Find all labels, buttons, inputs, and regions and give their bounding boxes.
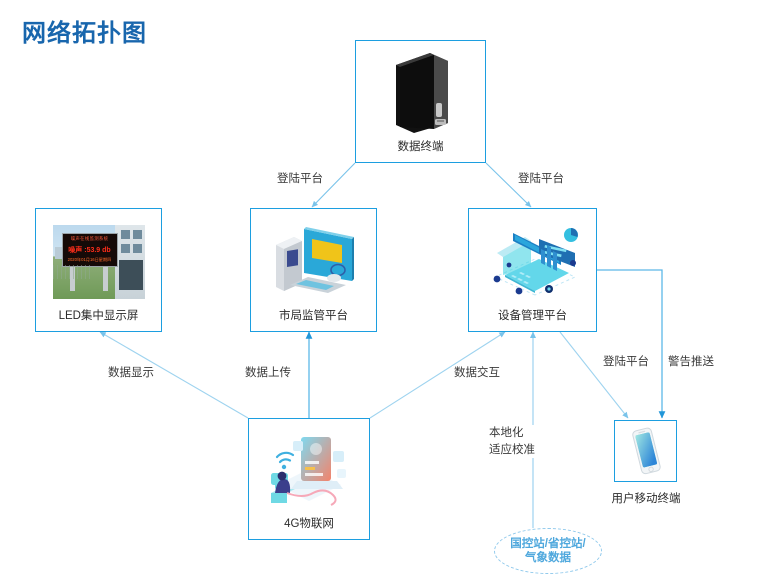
page-title: 网络拓扑图 [22, 13, 147, 48]
node-label-bureau-platform: 市局监管平台 [279, 310, 348, 331]
edge-label-login-mobile: 登陆平台 [601, 355, 651, 371]
led-text-line2: 噪声 :53.9 db [66, 245, 114, 255]
desktop-pc-icon [251, 209, 376, 310]
node-iot-4g[interactable]: 4G物联网 [248, 418, 370, 540]
edge-label-localization: 本地化 适应校准 [487, 425, 537, 458]
edge-label-alert-push: 警告推送 [666, 355, 716, 371]
led-text-line1: 噪声在线监测系统 [66, 236, 114, 242]
node-bureau-platform[interactable]: 市局监管平台 [250, 208, 377, 332]
node-data-terminal[interactable]: 数据终端 [355, 40, 486, 163]
node-label-led-display: LED集中显示屏 [59, 310, 139, 331]
external-data-line1: 国控站/省控站/ [510, 537, 585, 551]
edge-label-data-upload: 数据上传 [243, 366, 293, 382]
external-data-line2: 气象数据 [510, 551, 585, 565]
edge-device-to-mobile-alert [597, 270, 662, 418]
edge-label-login-left: 登陆平台 [275, 172, 325, 188]
node-device-platform[interactable]: 设备管理平台 [468, 208, 597, 332]
edge-label-localization-line1: 本地化 [489, 425, 535, 442]
node-label-mobile-terminal: 用户移动终端 [596, 490, 696, 506]
node-external-data[interactable]: 国控站/省控站/ 气象数据 [494, 528, 602, 574]
edge-device-to-mobile-login [560, 332, 628, 418]
led-billboard-icon: 噪声在线监测系统 噪声 :53.9 db 2020年01月16日星期四 [36, 209, 161, 310]
smartphone-icon [615, 421, 676, 481]
node-label-data-terminal: 数据终端 [398, 141, 444, 162]
node-led-display[interactable]: 噪声在线监测系统 噪声 :53.9 db 2020年01月16日星期四 LED集… [35, 208, 162, 332]
edge-label-login-right: 登陆平台 [516, 172, 566, 188]
server-icon [356, 41, 485, 141]
topology-diagram-canvas: 网络拓扑图 [0, 0, 771, 582]
node-label-iot-4g: 4G物联网 [284, 518, 334, 539]
led-text-line3: 2020年01月16日星期四 [65, 257, 115, 263]
iot-network-icon [249, 419, 369, 518]
node-label-device-platform: 设备管理平台 [498, 310, 567, 331]
edge-label-localization-line2: 适应校准 [489, 442, 535, 459]
edge-label-data-exchange: 数据交互 [452, 366, 502, 382]
laptop-analytics-icon [469, 209, 596, 310]
external-data-text: 国控站/省控站/ 气象数据 [510, 537, 585, 566]
edge-label-data-display: 数据显示 [106, 366, 156, 382]
node-mobile-terminal[interactable] [614, 420, 677, 482]
